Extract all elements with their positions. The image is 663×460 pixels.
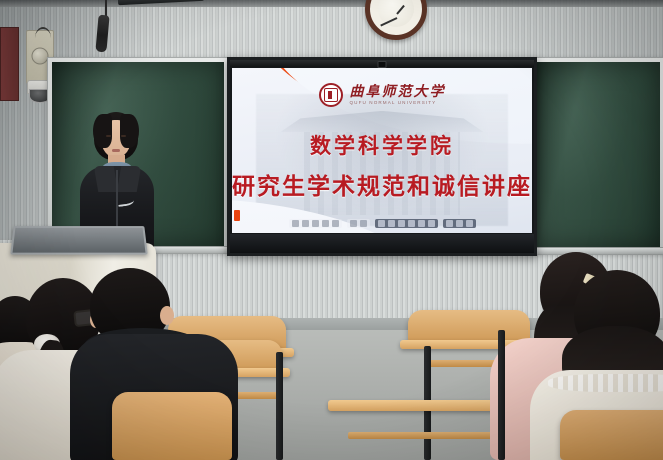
toolbar-group-view[interactable] (443, 219, 476, 228)
frame-tool-icon[interactable] (332, 220, 339, 227)
university-name-en: QUFU NORMAL UNIVERSITY (350, 101, 446, 106)
university-name-cn: 曲阜师范大学 (350, 85, 446, 99)
toolbar-group-tools[interactable] (289, 219, 342, 228)
pointer-tool-icon[interactable] (292, 220, 299, 227)
slide-title-line-2: 研究生学术规范和诚信讲座 (232, 167, 532, 201)
annotation-toolbar[interactable] (232, 218, 532, 229)
slide-thumb-6[interactable] (428, 220, 435, 227)
slide-thumb-3[interactable] (398, 220, 405, 227)
toolbar-group-pages[interactable] (375, 219, 438, 228)
shape-rect-tool-icon[interactable] (322, 220, 329, 227)
zoom-out-icon[interactable] (446, 220, 453, 227)
slide-thumb-5[interactable] (418, 220, 425, 227)
presenter-eye-left (106, 135, 111, 137)
display-top-bezel (230, 60, 534, 67)
clock-hour-hand (396, 5, 405, 15)
presenter-eye-right (121, 135, 126, 137)
slide-title-line-1: 数学科学学院 (232, 130, 532, 160)
slide-side-tab[interactable] (234, 210, 240, 221)
slide-thumb-1[interactable] (378, 220, 385, 227)
student-c-ear (160, 306, 174, 325)
display-camera-icon (378, 61, 387, 68)
presenter-hair-right (120, 114, 139, 148)
chalkboard-right-surface (536, 62, 660, 248)
slide-title-block: 数学科学学院 研究生学术规范和诚信讲座 (232, 130, 532, 201)
wall-cabinet (0, 27, 19, 101)
desk-leg-e (498, 330, 505, 460)
chair-back-right (560, 410, 663, 460)
fullscreen-icon[interactable] (466, 220, 473, 227)
lectern-monitor[interactable] (10, 226, 148, 255)
undo-tool-icon[interactable] (360, 220, 367, 227)
eraser-tool-icon[interactable] (350, 220, 357, 227)
pen-tool-icon[interactable] (302, 220, 309, 227)
chalkboard-right (531, 57, 663, 253)
speaker-cone (32, 47, 49, 64)
ceiling-edge (0, 0, 663, 7)
classroom-scene: 曲阜师范大学 QUFU NORMAL UNIVERSITY 数学科学学院 研究生… (0, 0, 663, 460)
university-logo-text: 曲阜师范大学 QUFU NORMAL UNIVERSITY (350, 85, 446, 106)
presentation-slide[interactable]: 曲阜师范大学 QUFU NORMAL UNIVERSITY 数学科学学院 研究生… (232, 68, 532, 233)
toolbar-group-edit[interactable] (347, 219, 370, 228)
presenter-hair-left (93, 114, 112, 148)
clock-face (378, 0, 414, 27)
smart-display[interactable]: 曲阜师范大学 QUFU NORMAL UNIVERSITY 数学科学学院 研究生… (227, 57, 537, 256)
presenter-mouth (112, 149, 120, 152)
clock-minute-hand (380, 17, 397, 26)
university-logo-row: 曲阜师范大学 QUFU NORMAL UNIVERSITY (232, 83, 532, 107)
desk-leg-b (276, 352, 283, 460)
slide-thumb-4[interactable] (408, 220, 415, 227)
microphone-wire (105, 0, 107, 16)
chair-back-center (112, 392, 232, 460)
desk-shelf-front-center (348, 432, 508, 439)
shape-circle-tool-icon[interactable] (312, 220, 319, 227)
zoom-in-icon[interactable] (456, 220, 463, 227)
slide-thumb-2[interactable] (388, 220, 395, 227)
university-seal-icon (319, 83, 343, 107)
display-bottom-bezel (230, 234, 534, 253)
student-e-lace-trim (548, 374, 663, 392)
